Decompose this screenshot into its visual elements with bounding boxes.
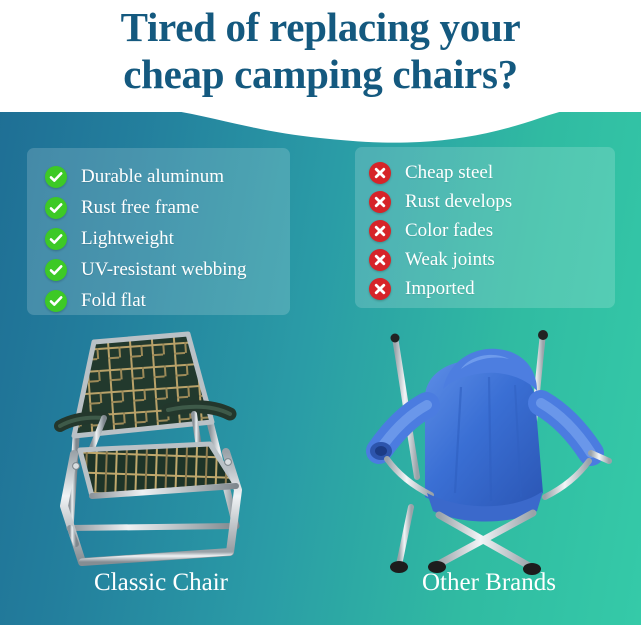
list-item-label: Fold flat [81, 290, 146, 312]
headline-line-1: Tired of replacing your [0, 4, 641, 51]
list-item: Durable aluminum [45, 163, 290, 191]
cons-list: Cheap steel Rust develops Color fades [355, 147, 615, 302]
check-circle-icon [45, 197, 67, 219]
check-circle-icon [45, 259, 67, 281]
page-title: Tired of replacing your cheap camping ch… [0, 4, 641, 98]
list-item-label: Cheap steel [405, 162, 493, 184]
list-item: Rust develops [369, 188, 615, 215]
x-circle-icon [369, 191, 391, 213]
header-band: Tired of replacing your cheap camping ch… [0, 0, 641, 112]
pros-panel: Durable aluminum Rust free frame Lightwe… [27, 148, 290, 315]
list-item-label: Color fades [405, 220, 493, 242]
check-circle-icon [45, 228, 67, 250]
list-item-label: UV-resistant webbing [81, 259, 247, 281]
list-item-label: Imported [405, 278, 475, 300]
list-item: Lightweight [45, 225, 290, 253]
list-item-label: Weak joints [405, 249, 495, 271]
list-item: Weak joints [369, 246, 615, 273]
x-circle-icon [369, 220, 391, 242]
classic-chair-image [40, 330, 290, 575]
cons-panel: Cheap steel Rust develops Color fades [355, 147, 615, 308]
comparison-infographic: Tired of replacing your cheap camping ch… [0, 0, 641, 625]
list-item: Color fades [369, 217, 615, 244]
list-item-label: Lightweight [81, 228, 174, 250]
list-item: Fold flat [45, 287, 290, 315]
classic-chair-caption: Classic Chair [30, 568, 292, 598]
check-circle-icon [45, 166, 67, 188]
list-item: UV-resistant webbing [45, 256, 290, 284]
headline-line-2: cheap camping chairs? [0, 51, 641, 98]
pros-list: Durable aluminum Rust free frame Lightwe… [27, 148, 290, 315]
x-circle-icon [369, 249, 391, 271]
list-item-label: Rust develops [405, 191, 512, 213]
list-item: Cheap steel [369, 159, 615, 186]
other-brands-chair-image [365, 325, 610, 575]
check-circle-icon [45, 290, 67, 312]
other-brands-caption: Other Brands [358, 568, 620, 598]
list-item-label: Rust free frame [81, 197, 199, 219]
list-item: Imported [369, 275, 615, 302]
list-item: Rust free frame [45, 194, 290, 222]
x-circle-icon [369, 162, 391, 184]
list-item-label: Durable aluminum [81, 166, 224, 188]
x-circle-icon [369, 278, 391, 300]
